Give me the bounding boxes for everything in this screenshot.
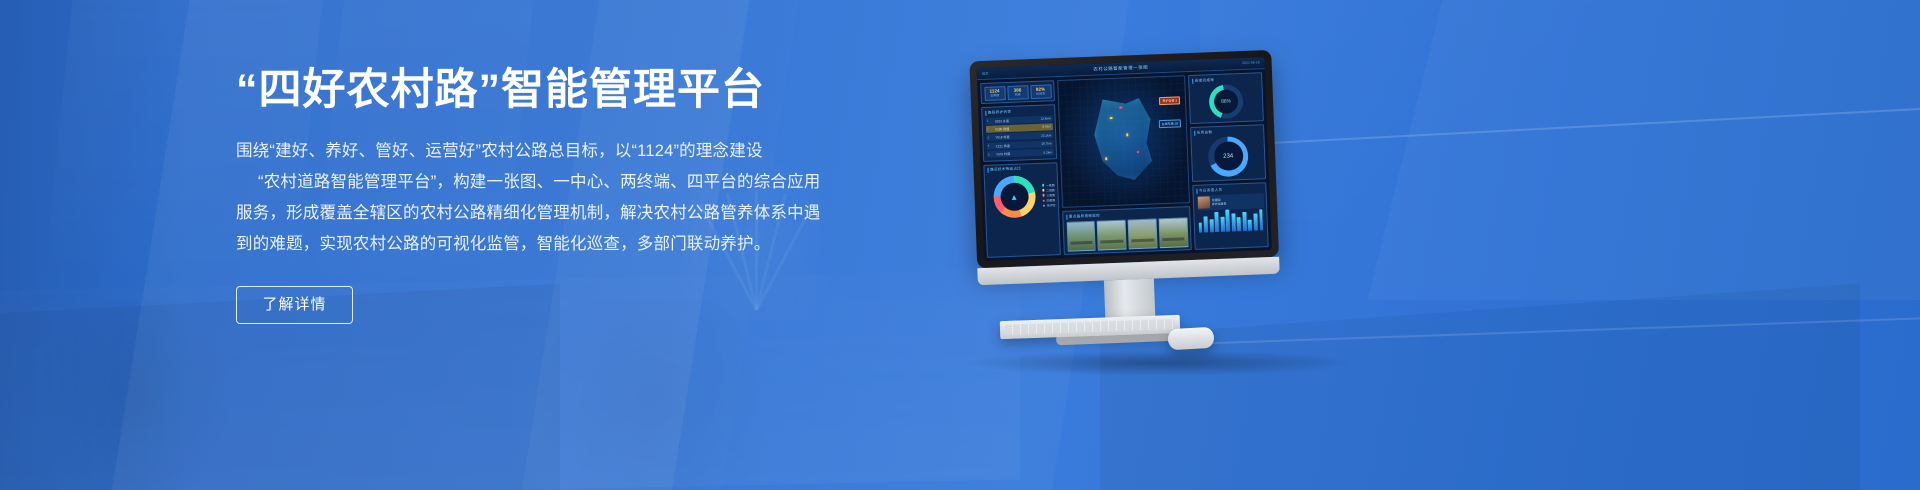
map-alert-tag[interactable]: 养护告警 3 bbox=[1159, 97, 1180, 106]
row-index: 3 bbox=[987, 135, 993, 139]
legend-item: 待评定 bbox=[1043, 204, 1056, 208]
dashboard-screen: 首页 农村公路智能管理一张图 2021-06-18 1124 总里程 bbox=[977, 57, 1272, 261]
kpi-label: 桥梁 bbox=[1010, 92, 1026, 97]
row-name: X105 县道 bbox=[995, 125, 1031, 131]
row-index: 2 bbox=[987, 127, 993, 131]
kpi-item: 92% 优良率 bbox=[1030, 84, 1052, 99]
inspector-role: 养护巡查员 bbox=[1212, 202, 1227, 207]
task-total-title: 任务总数 bbox=[1194, 128, 1261, 136]
row-value: 16.7km bbox=[1034, 142, 1052, 147]
hero-description: 围绕“建好、养好、管好、运营好”农村公路总目标，以“1124”的理念建设 “农村… bbox=[236, 136, 876, 260]
dashboard-center-column: 养护告警 3 在线车辆 28 重点路段视频监控 bbox=[1057, 75, 1192, 255]
row-value: 12.4km bbox=[1033, 116, 1051, 121]
row-value: 23.1km bbox=[1033, 133, 1051, 138]
dashboard-left-column: 1124 总里程 386 桥梁 92% 优良率 bbox=[980, 80, 1061, 258]
video-feed[interactable] bbox=[1128, 218, 1158, 249]
inspection-gauge-chart: 86% bbox=[1208, 83, 1243, 118]
legend-label: 二类路 bbox=[1046, 188, 1055, 192]
inspector-title: 今日巡查人员 bbox=[1196, 186, 1263, 194]
dashboard-right-column: 巡查完成率 86% 任务总数 234 今日巡查人员 bbox=[1188, 72, 1269, 250]
dashboard-body: 1124 总里程 386 桥梁 92% 优良率 bbox=[977, 69, 1272, 261]
inspector-card: 今日巡查人员 张建国 养护巡查员 bbox=[1192, 182, 1268, 250]
row-name: Y018 村道 bbox=[995, 133, 1031, 139]
description-line-1: 围绕“建好、养好、管好、运营好”农村公路总目标，以“1124”的理念建设 bbox=[236, 136, 876, 167]
hero-banner: “四好农村路”智能管理平台 围绕“建好、养好、管好、运营好”农村公路总目标，以“… bbox=[0, 0, 1920, 490]
road-grade-legend: 一类路 二类路 三类路 四类路 待评定 bbox=[1042, 183, 1056, 208]
task-total-card: 任务总数 234 bbox=[1190, 124, 1266, 182]
inspection-bar-chart bbox=[1197, 208, 1265, 233]
desktop-computer: 首页 农村公路智能管理一张图 2021-06-18 1124 总里程 bbox=[969, 49, 1310, 361]
description-line-4: 到的难题，实现农村公路的可视化监管，智能化巡查，多部门联动养护。 bbox=[236, 229, 876, 260]
map-marker[interactable] bbox=[1126, 134, 1128, 136]
mouse bbox=[1167, 327, 1214, 350]
video-feed[interactable] bbox=[1158, 217, 1188, 248]
maintenance-table-card: 路段养护列表 1 S203 乡道 12.4km 2 X105 县道 bbox=[981, 104, 1057, 161]
shape-panel-5 bbox=[1368, 0, 1920, 300]
row-index: 4 bbox=[988, 144, 994, 148]
road-grade-donut-chart: ▲ bbox=[992, 175, 1036, 219]
donut-center-icon: ▲ bbox=[1000, 182, 1029, 211]
map-marker-alert[interactable] bbox=[1120, 106, 1122, 108]
map-vehicle-tag[interactable]: 在线车辆 28 bbox=[1159, 119, 1181, 128]
hero-copy: “四好农村路”智能管理平台 围绕“建好、养好、管好、运营好”农村公路总目标，以“… bbox=[236, 66, 876, 324]
legend-label: 三类路 bbox=[1046, 193, 1055, 197]
avatar bbox=[1198, 196, 1210, 208]
kpi-item: 386 桥梁 bbox=[1007, 85, 1029, 100]
kpi-label: 优良率 bbox=[1033, 91, 1049, 96]
table-row[interactable]: 5 Y076 村道 5.2km bbox=[986, 148, 1053, 158]
legend-item: 二类路 bbox=[1042, 188, 1055, 192]
legend-item: 一类路 bbox=[1042, 183, 1055, 187]
legend-label: 一类路 bbox=[1046, 183, 1055, 187]
monitor-bezel: 首页 农村公路智能管理一张图 2021-06-18 1124 总里程 bbox=[969, 50, 1279, 268]
row-value: 5.2km bbox=[1034, 150, 1052, 155]
inspection-rate-title: 巡查完成率 bbox=[1192, 76, 1259, 84]
video-feed[interactable] bbox=[1097, 219, 1127, 250]
kpi-label: 总里程 bbox=[987, 93, 1003, 98]
dashboard-home-link[interactable]: 首页 bbox=[982, 71, 989, 76]
video-feed[interactable] bbox=[1066, 220, 1096, 251]
road-network-map[interactable]: 养护告警 3 在线车辆 28 bbox=[1057, 75, 1190, 208]
ring-value: 234 bbox=[1213, 141, 1243, 171]
video-grid bbox=[1066, 217, 1188, 252]
inspector-meta: 张建国 养护巡查员 bbox=[1212, 197, 1227, 206]
legend-label: 四类路 bbox=[1047, 199, 1056, 203]
inspection-rate-card: 巡查完成率 86% bbox=[1188, 72, 1264, 124]
row-index: 1 bbox=[987, 119, 993, 123]
dashboard-date: 2021-06-18 bbox=[1242, 60, 1260, 65]
maintenance-table: 1 S203 乡道 12.4km 2 X105 县道 8.6km bbox=[985, 115, 1054, 158]
row-value: 8.6km bbox=[1033, 125, 1051, 130]
row-name: X221 县道 bbox=[996, 142, 1032, 148]
description-line-2: “农村道路智能管理平台”，构建一张图、一中心、两终端、四平台的综合应用 bbox=[236, 167, 876, 198]
road-grade-card: 路况技术等级占比 ▲ 一类路 二类路 三类路 四类路 待评定 bbox=[983, 162, 1061, 258]
map-marker[interactable] bbox=[1110, 117, 1112, 119]
description-line-3: 服务，形成覆盖全辖区的农村公路精细化管理机制，解决农村公路管养体系中遇 bbox=[236, 198, 876, 229]
gauge-value: 86% bbox=[1214, 89, 1239, 114]
row-name: S203 乡道 bbox=[995, 117, 1031, 123]
video-monitor-card: 重点路段视频监控 bbox=[1062, 206, 1192, 255]
kpi-item: 1124 总里程 bbox=[984, 86, 1006, 101]
kpi-card: 1124 总里程 386 桥梁 92% 优良率 bbox=[980, 80, 1055, 104]
legend-label: 待评定 bbox=[1047, 204, 1056, 208]
legend-item: 三类路 bbox=[1042, 193, 1055, 197]
task-ring-chart: 234 bbox=[1207, 135, 1249, 177]
page-title: “四好农村路”智能管理平台 bbox=[236, 66, 876, 114]
shape-left-vignette bbox=[0, 0, 190, 490]
row-index: 5 bbox=[988, 152, 994, 156]
dashboard-title: 农村公路智能管理一张图 bbox=[1093, 64, 1148, 72]
row-name: Y076 村道 bbox=[996, 150, 1032, 156]
learn-more-button[interactable]: 了解详情 bbox=[236, 286, 353, 324]
